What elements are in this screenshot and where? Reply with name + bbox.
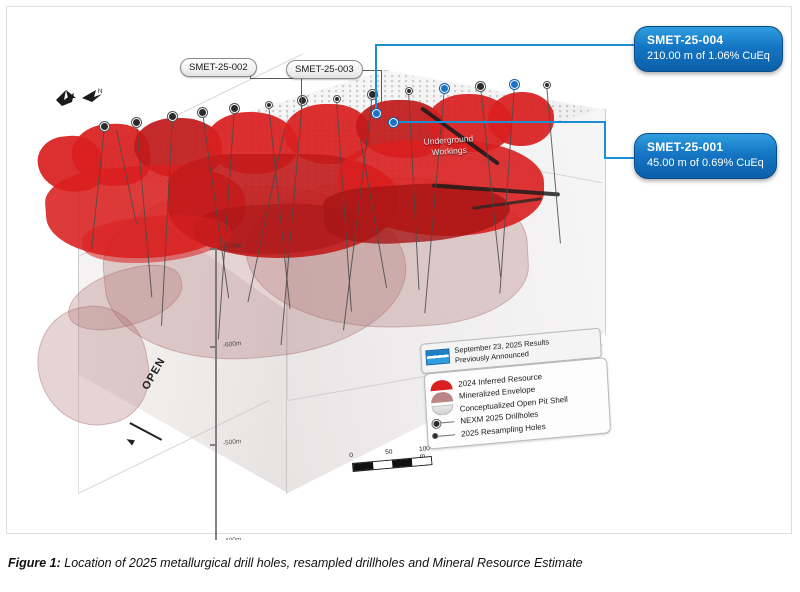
drillhole-collar[interactable] [230, 104, 239, 113]
elevation-tick [210, 444, 216, 446]
drillhole-collar-highlighted[interactable] [510, 80, 519, 89]
open-direction-arrow-head [125, 436, 135, 445]
callout-title: SMET-25-004 [647, 33, 770, 48]
hole-tag-smet-25-003[interactable]: SMET-25-003 [286, 60, 363, 79]
svg-text:N: N [98, 89, 102, 95]
drillhole-collar[interactable] [100, 122, 109, 131]
scale-bar-label: 50 [385, 448, 393, 456]
legend-swatch-red-dome-icon [430, 379, 453, 392]
drillhole-collar[interactable] [132, 118, 141, 127]
figure-caption-label: Figure 1: [8, 556, 61, 570]
callout-anchor-smet-25-001[interactable] [389, 118, 398, 127]
legend: September 23, 2025 Results Previously An… [420, 328, 605, 474]
legend-swatch-mauve-dome-icon [431, 391, 454, 404]
drillhole-collar[interactable] [476, 82, 485, 91]
callout-leader-vertical [604, 121, 606, 158]
callout-leader-horizontal [604, 157, 636, 159]
tag-leader-line [301, 78, 302, 110]
figure-caption: Figure 1: Location of 2025 metallurgical… [8, 556, 792, 570]
underground-workings-label: Underground Workings [423, 133, 474, 158]
drillhole-collar[interactable] [544, 82, 550, 88]
figure-panel: -700m -600m -500m -400m OPEN [0, 0, 800, 540]
callout-leader-horizontal [375, 44, 635, 46]
elevation-tick [210, 248, 216, 250]
scale-bar-label: 0 [349, 452, 353, 459]
callout-subtitle: 210.00 m of 1.06% CuEq [647, 50, 770, 64]
open-direction-arrow-line [130, 422, 162, 440]
callout-subtitle: 45.00 m of 0.69% CuEq [647, 157, 764, 171]
callout-smet-25-001[interactable]: SMET-25-001 45.00 m of 0.69% CuEq [634, 133, 777, 179]
figure-caption-text: Location of 2025 metallurgical drill hol… [61, 556, 583, 570]
legend-header-swatch-icon [425, 349, 450, 366]
legend-swatch-drillhole-icon [432, 416, 455, 429]
drillhole-collar[interactable] [406, 88, 412, 94]
legend-swatch-resampling-hole-icon [433, 429, 456, 442]
callout-title: SMET-25-001 [647, 140, 764, 155]
legend-body: 2024 Inferred Resource Mineralized Envel… [424, 357, 611, 450]
callout-leader-horizontal [392, 121, 605, 123]
drillhole-collar[interactable] [168, 112, 177, 121]
drillhole-collar[interactable] [266, 102, 272, 108]
callout-anchor-smet-25-004[interactable] [372, 109, 381, 118]
elevation-axis: -700m -600m -500m -400m [215, 248, 217, 540]
legend-swatch-gray-bowl-icon [431, 404, 454, 417]
north-arrow-icon: N [52, 84, 108, 114]
elevation-tick [210, 346, 216, 348]
drillhole-collar-highlighted[interactable] [440, 84, 449, 93]
tag-leader-line [381, 70, 382, 114]
hole-tag-smet-25-002[interactable]: SMET-25-002 [180, 58, 257, 77]
hole-tag-label: SMET-25-002 [189, 62, 248, 73]
drillhole-collar[interactable] [298, 96, 307, 105]
hole-tag-label: SMET-25-003 [295, 64, 354, 75]
legend-header-text: September 23, 2025 Results Previously An… [454, 337, 550, 365]
drillhole-collar[interactable] [198, 108, 207, 117]
callout-leader-vertical [375, 44, 377, 114]
drillhole-collar[interactable] [334, 96, 340, 102]
callout-smet-25-004[interactable]: SMET-25-004 210.00 m of 1.06% CuEq [634, 26, 783, 72]
elevation-label: -400m [223, 536, 242, 540]
